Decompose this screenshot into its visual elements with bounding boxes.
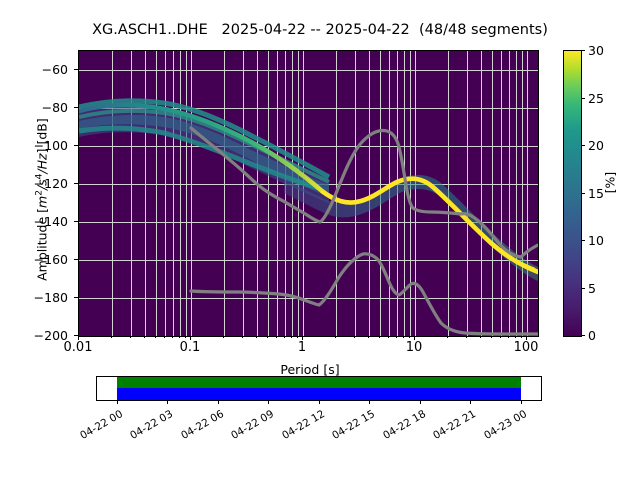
colorbar-tick-label: 5 <box>588 281 596 296</box>
timeline-tick-mark <box>117 400 118 404</box>
y-tick-label: −120 <box>20 176 68 191</box>
x-tick-mark-minor <box>291 336 292 338</box>
x-tick-mark-minor <box>179 336 180 338</box>
x-tick-mark-minor <box>491 336 492 338</box>
x-tick-mark-minor <box>130 336 131 338</box>
x-tick-mark-minor <box>396 336 397 338</box>
timeline-tick-label: 04-22 00 <box>69 408 125 447</box>
x-tick-mark-minor <box>284 336 285 338</box>
timeline-tick-label: 04-22 15 <box>321 408 377 447</box>
timeline-tick-mark <box>218 400 219 404</box>
x-tick-mark-minor <box>267 336 268 338</box>
x-tick-label: 0.01 <box>48 340 108 355</box>
x-tick-mark-minor <box>223 336 224 338</box>
timeline-tick-label: 04-22 06 <box>170 408 226 447</box>
x-tick-label: 1 <box>282 340 322 355</box>
x-tick-mark-minor <box>500 336 501 338</box>
timeline-tick-label: 04-22 09 <box>220 408 276 447</box>
x-tick-mark-minor <box>466 336 467 338</box>
timeline-tick-mark <box>319 400 320 404</box>
nlnm-noise-model-curve <box>191 254 538 334</box>
colorbar-tick-label: 0 <box>588 328 596 343</box>
x-tick-mark-minor <box>144 336 145 338</box>
x-tick-mark-minor <box>256 336 257 338</box>
colorbar-tick-mark <box>581 288 585 289</box>
y-tick-label: −180 <box>20 290 68 305</box>
x-axis-label: Period [s] <box>0 362 620 377</box>
x-tick-mark-minor <box>409 336 410 338</box>
x-tick-label: 10 <box>392 340 436 355</box>
colorbar-tick-mark <box>581 335 585 336</box>
x-tick-mark-minor <box>388 336 389 338</box>
x-tick-label: 100 <box>500 340 552 355</box>
timeline-tick-mark <box>521 400 522 404</box>
psd-coverage-bar <box>117 388 521 400</box>
timeline-tick-label: 04-23 00 <box>473 408 529 447</box>
timeline-tick-mark <box>369 400 370 404</box>
x-tick-mark-minor <box>480 336 481 338</box>
colorbar-tick-mark <box>581 145 585 146</box>
y-tick-label: −100 <box>20 138 68 153</box>
x-tick-mark-minor <box>335 336 336 338</box>
x-tick-mark-minor <box>515 336 516 338</box>
ppsd-figure: XG.ASCH1..DHE 2025-04-22 -- 2025-04-22 (… <box>0 0 640 480</box>
x-tick-mark-minor <box>403 336 404 338</box>
colorbar-tick-mark <box>581 240 585 241</box>
colorbar-tick-label: 10 <box>588 233 604 248</box>
timeline-tick-label: 04-22 21 <box>422 408 478 447</box>
x-tick-mark-minor <box>297 336 298 338</box>
x-tick-mark-minor <box>521 336 522 338</box>
timeline-tick-label: 04-22 18 <box>372 408 428 447</box>
y-tick-label: −160 <box>20 252 68 267</box>
x-tick-mark-minor <box>508 336 509 338</box>
colorbar-tick-label: 30 <box>588 43 604 58</box>
x-tick-label: 0.1 <box>163 340 217 355</box>
x-tick-mark-minor <box>276 336 277 338</box>
x-tick-mark-minor <box>172 336 173 338</box>
x-tick-mark-minor <box>164 336 165 338</box>
timeline-tick-mark <box>167 400 168 404</box>
colorbar-label: [%] <box>603 143 618 223</box>
colorbar[interactable] <box>563 50 582 337</box>
colorbar-tick-mark <box>581 98 585 99</box>
x-tick-mark-minor <box>155 336 156 338</box>
ppsd-plot-area[interactable] <box>78 50 539 337</box>
ppsd-canvas <box>79 51 538 336</box>
timeline-tick-mark <box>470 400 471 404</box>
page-title: XG.ASCH1..DHE 2025-04-22 -- 2025-04-22 (… <box>0 22 640 38</box>
x-tick-mark-minor <box>111 336 112 338</box>
timeline-tick-mark <box>268 400 269 404</box>
timeline-tick-label: 04-22 03 <box>119 408 175 447</box>
colorbar-tick-mark <box>581 193 585 194</box>
x-tick-mark-minor <box>242 336 243 338</box>
timeline-tick-mark <box>420 400 421 404</box>
x-tick-mark-minor <box>379 336 380 338</box>
colorbar-tick-mark <box>581 50 585 51</box>
ppsd-density-histogram <box>79 51 538 336</box>
x-tick-mark-minor <box>447 336 448 338</box>
data-coverage-timeline[interactable] <box>96 376 542 401</box>
y-tick-label: −80 <box>20 100 68 115</box>
x-tick-mark-minor <box>185 336 186 338</box>
timeline-tick-label: 04-22 12 <box>271 408 327 447</box>
colorbar-tick-label: 25 <box>588 91 604 106</box>
y-tick-label: −60 <box>20 62 68 77</box>
y-tick-label: −140 <box>20 214 68 229</box>
x-tick-mark-minor <box>354 336 355 338</box>
x-tick-mark-minor <box>368 336 369 338</box>
data-coverage-bar <box>117 377 521 388</box>
